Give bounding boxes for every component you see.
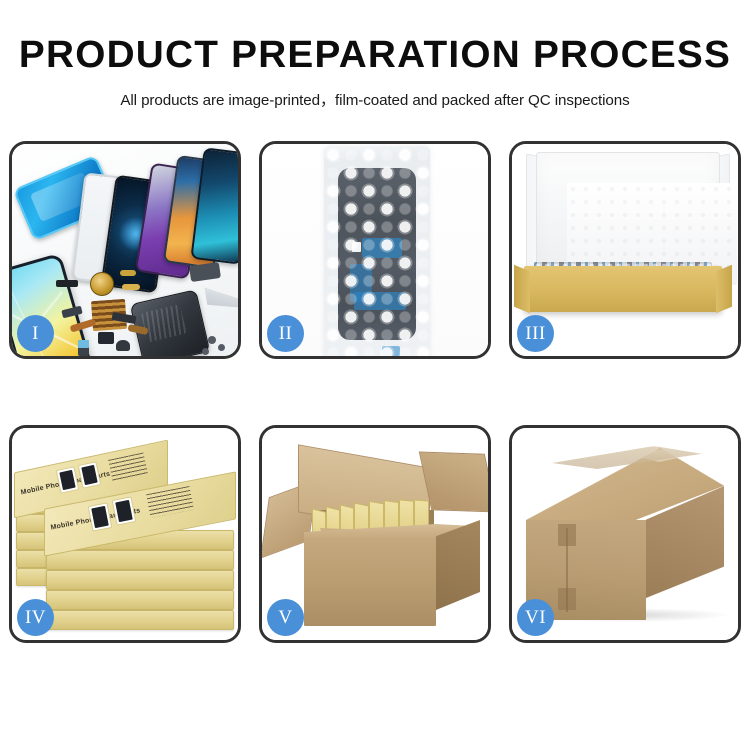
tweezers-tool [198,280,238,322]
step-badge-2: II [267,315,304,352]
stacked-box-r5 [46,610,234,630]
bubble-texture-small [324,146,430,356]
step-panel-3: III [509,141,741,359]
step-badge-1: I [17,315,54,352]
bubble-wrap-pack [324,146,430,356]
product-preparation-infographic: PRODUCT PREPARATION PROCESS All products… [0,0,750,750]
process-steps-grid: I II [9,141,741,697]
stacked-box-r4 [46,590,234,610]
step-panel-1: I [9,141,241,359]
carton-tab-top [558,524,576,546]
small-part-d [122,284,140,290]
stacked-box-r3 [46,570,234,590]
screw-c [202,348,209,355]
small-part-j [116,340,130,351]
step-badge-6: VI [517,599,554,636]
step-badge-5: V [267,599,304,636]
carton-flap-right [419,452,488,513]
step-badge-3: III [517,315,554,352]
step-badge-4: IV [17,599,54,636]
header: PRODUCT PREPARATION PROCESS All products… [0,0,750,110]
small-part-c [120,270,136,276]
screw-a [208,336,216,344]
step-panel-6: VI [509,425,741,643]
small-part-a [189,262,221,282]
small-part-i [98,332,114,344]
phone-backplate [130,289,211,356]
carton-tab-bottom [558,588,576,610]
small-part-l [78,340,89,348]
page-title: PRODUCT PREPARATION PROCESS [0,36,750,74]
step-panel-5: V [259,425,491,643]
step-panel-2: II [259,141,491,359]
stacked-box-r2 [46,550,234,570]
step-panel-4: Mobile Phone Spare Parts Mobile Phone Sp… [9,425,241,643]
carton-front-face [304,538,436,626]
screw-b [218,344,225,351]
page-subtitle: All products are image-printed，film-coat… [0,88,750,110]
copper-coil-part [90,272,114,296]
kraft-box-base [524,266,722,312]
small-part-b [56,280,78,287]
